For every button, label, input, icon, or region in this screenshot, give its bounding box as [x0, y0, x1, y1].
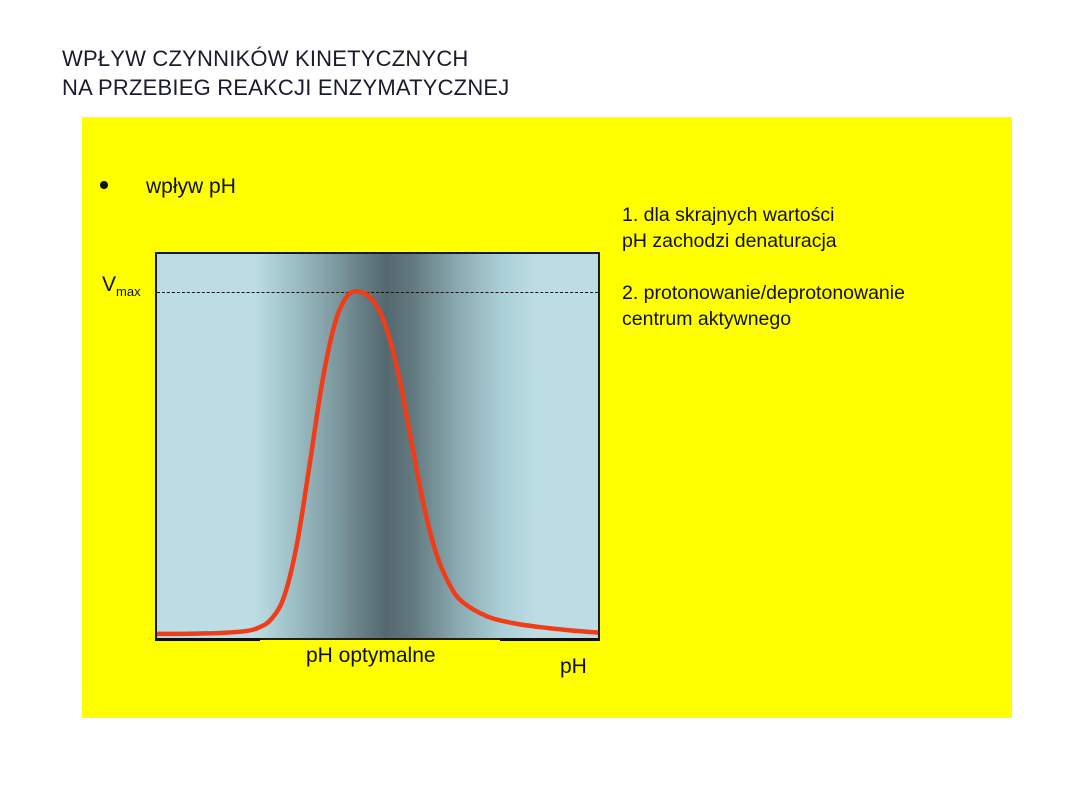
- ph-activity-chart: [155, 252, 600, 640]
- vmax-subscript-text: max: [116, 284, 141, 299]
- x-axis-caption: pH: [560, 655, 587, 679]
- bullet-item-ph-influence: wpływ pH: [100, 175, 236, 199]
- note-item-1: 1. dla skrajnych wartości pH zachodzi de…: [622, 202, 1012, 254]
- x-axis-segment-right: [500, 638, 600, 641]
- activity-curve-path: [157, 291, 600, 634]
- activity-curve: [157, 254, 600, 640]
- bullet-item-label: wpływ pH: [146, 175, 236, 199]
- chart-plot-area: [155, 252, 600, 640]
- notes-list: 1. dla skrajnych wartości pH zachodzi de…: [622, 202, 1012, 358]
- note-item-2: 2. protonowanie/deprotonowanie centrum a…: [622, 280, 1012, 332]
- x-axis-segment-left: [155, 638, 260, 641]
- slide-content-panel: wpływ pH 1. dla skrajnych wartości pH za…: [82, 117, 1012, 718]
- ph-optimum-caption: pH optymalne: [306, 644, 436, 668]
- vmax-main-text: V: [102, 273, 116, 296]
- y-axis-vmax-label: Vmax: [102, 274, 141, 298]
- page-title: WPŁYW CZYNNIKÓW KINETYCZNYCH NA PRZEBIEG…: [62, 44, 509, 102]
- bullet-dot-icon: [100, 181, 108, 189]
